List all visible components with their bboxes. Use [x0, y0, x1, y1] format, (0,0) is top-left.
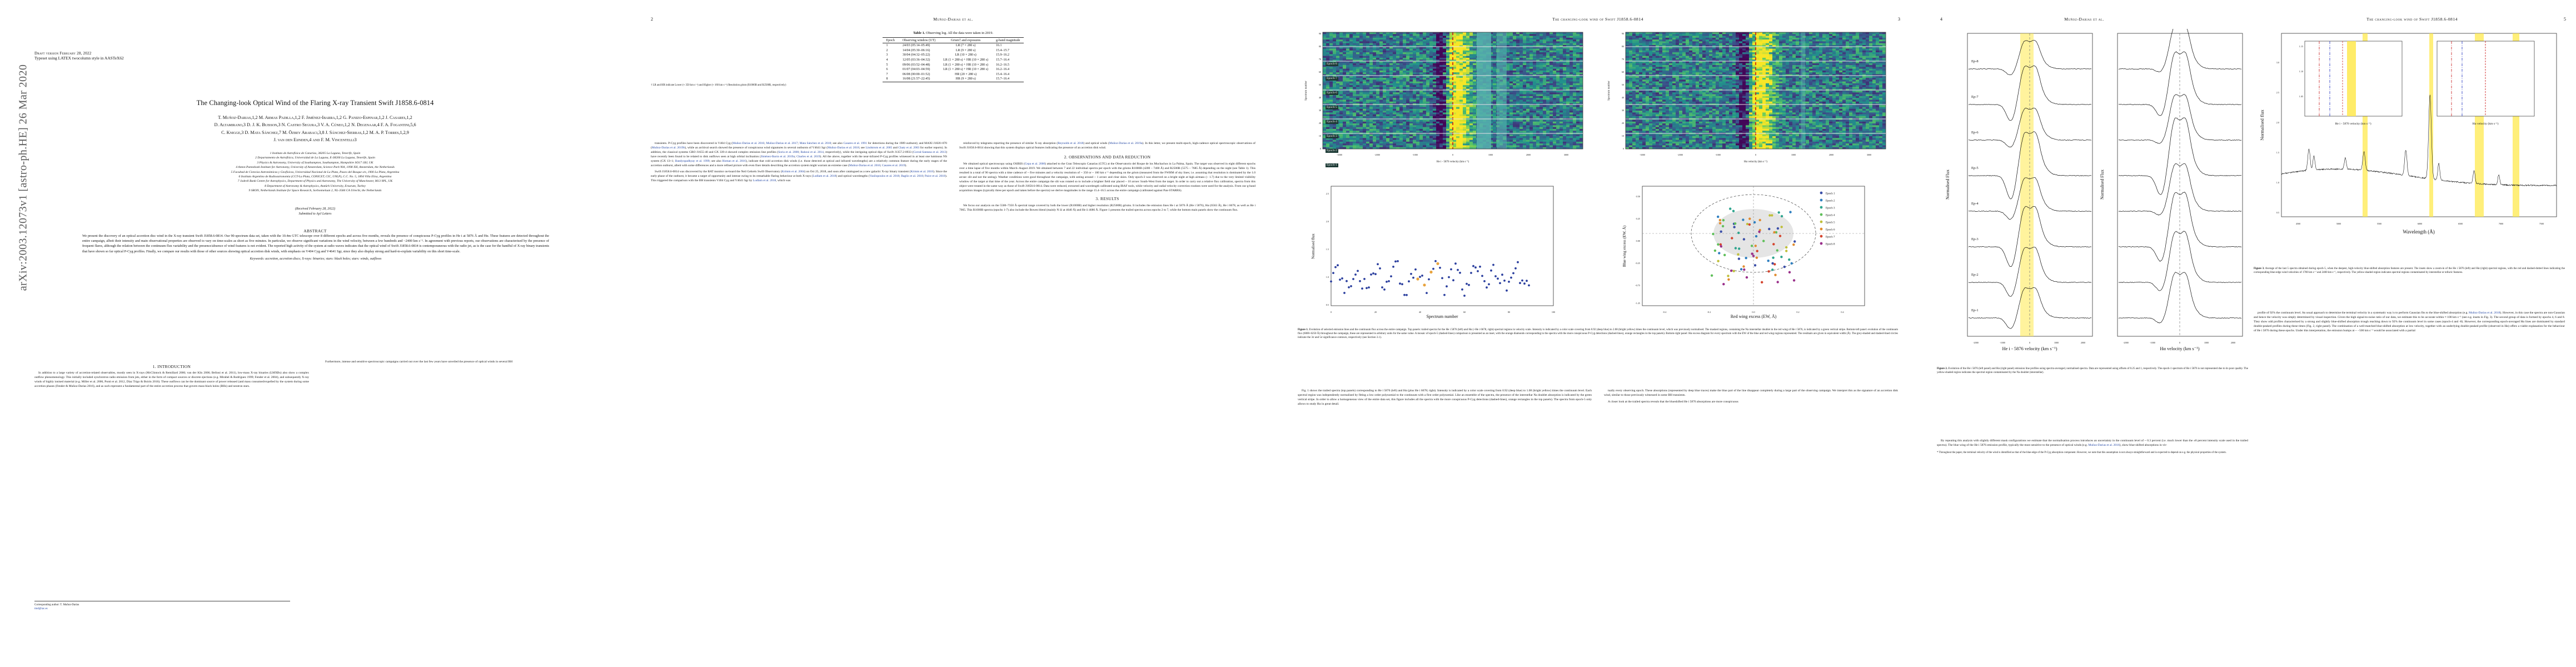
excess-point	[1746, 223, 1748, 225]
flux-point	[1463, 295, 1466, 297]
excess-point	[1752, 255, 1755, 257]
figure2-caption: Figure 2. Evolution of the He i 5876 (le…	[1937, 367, 2248, 375]
flux-point	[1339, 278, 1341, 281]
legend-marker	[1820, 242, 1823, 245]
epoch-tag: Epoch-5	[1326, 106, 1338, 109]
cell-grism: LR (10 × 280 s)	[939, 53, 992, 58]
excess-point	[1754, 264, 1756, 266]
flux-point	[1352, 278, 1354, 280]
cell-mag: 16.1	[992, 43, 1024, 48]
flux-point	[1372, 272, 1374, 275]
affiliation-3: 3 Physics & Astronomy, University of Sou…	[34, 161, 596, 165]
paper-spread: arXiv:2003.12073v1 [astro-ph.HE] 26 Mar …	[0, 0, 2576, 667]
col-epoch: Epoch	[883, 38, 899, 43]
flux-point	[1441, 277, 1443, 280]
table-row: 3 30/04 (04:32–05:22) LR (10 × 280 s) 15…	[883, 53, 1024, 58]
excess-point	[1785, 246, 1787, 248]
continuum-flux-axes	[1331, 186, 1553, 306]
excess-point	[1743, 238, 1745, 240]
flux-point	[1390, 275, 1392, 277]
cell-grism: LR (1 × 280 s) + HR (10 × 280 s)	[939, 58, 992, 63]
cell-epoch: 2	[883, 48, 899, 53]
flux-point	[1412, 277, 1414, 279]
flux-point	[1343, 292, 1346, 294]
flux-point	[1497, 277, 1499, 280]
table-row: 5 09/06 (03:52–04:48) LR (1 × 280 s) + H…	[883, 62, 1024, 67]
flux-point	[1526, 280, 1528, 282]
page3-body-left: Fig. 1 shows the trailed spectra (top pa…	[1298, 389, 1592, 407]
excess-point	[1756, 250, 1758, 252]
figure1-caption-text: Evolution of selected emission lines and…	[1298, 328, 1898, 339]
col-grism: Grism† and exposures	[939, 38, 992, 43]
excess-point	[1714, 250, 1716, 252]
excess-point	[1768, 214, 1771, 216]
flux-x-label: Spectrum number	[1426, 314, 1458, 319]
running-head-3: The changing-look wind of Swift J1858.6-…	[1275, 17, 1920, 22]
x-axis-label-left: He i - 5876 velocity (km s⁻¹)	[1437, 160, 1469, 163]
flux-point	[1354, 273, 1357, 276]
corresponding-email[interactable]: tmd@iac.es	[34, 607, 290, 611]
author-line-4: J. van den Eijnden,4 and F. M. Vincentel…	[34, 136, 596, 143]
page-3: 3 The changing-look wind of Swift J1858.…	[1275, 0, 1920, 667]
excess-point	[1745, 257, 1747, 259]
table-caption-label: Table 1.	[913, 31, 925, 35]
epoch-tag: Epoch-4	[1326, 120, 1338, 124]
flux-point	[1432, 268, 1434, 270]
epoch-label: Ep-3	[1971, 237, 1979, 241]
flux-point	[1370, 273, 1372, 276]
flux-point	[1510, 277, 1512, 279]
excess-point	[1793, 240, 1796, 242]
flux-point	[1477, 270, 1479, 272]
flux-point	[1512, 272, 1514, 275]
flux-point	[1457, 269, 1459, 271]
page2-column-left: transients. P-Cyg profiles have been dis…	[651, 142, 947, 215]
excess-point	[1785, 250, 1787, 252]
excess-point	[1781, 226, 1783, 228]
figure2-y-label-right: Normalised Flux	[2100, 170, 2105, 200]
excess-point	[1712, 233, 1714, 235]
cell-epoch: 4	[883, 58, 899, 63]
flux-point	[1361, 287, 1363, 290]
epoch-tag: Epoch-7	[1326, 77, 1338, 81]
results-heading: 3. RESULTS	[959, 196, 1255, 202]
excess-point	[1774, 274, 1776, 276]
corresponding-author: Corresponding author: T. Muñoz-Darias tm…	[34, 601, 290, 611]
affiliation-1: 1 Instituto de Astrofísica de Canarias, …	[34, 151, 596, 156]
cell-mag: 15.7–16.4	[992, 58, 1024, 63]
trailed-spectra-halpha	[1626, 32, 1886, 150]
table-row: 8 16/08 (21:57–22:45) HR (9 × 280 s) 15.…	[883, 77, 1024, 82]
flux-point	[1528, 285, 1530, 287]
epoch-label: Ep-1	[1971, 308, 1979, 312]
flux-point	[1501, 273, 1503, 276]
flux-point	[1334, 266, 1337, 268]
figure2-label: Figure 2.	[1937, 367, 1947, 370]
flux-point	[1519, 282, 1521, 284]
excess-point	[1772, 257, 1774, 259]
flux-point	[1366, 287, 1368, 289]
legend-label: Epoch 1	[1826, 193, 1835, 196]
affiliations: 1 Instituto de Astrofísica de Canarias, …	[34, 151, 596, 193]
figure2-x-label-right: Hα velocity (km s⁻¹)	[2160, 346, 2199, 351]
author-line-1: T. Muñoz-Darias,1,2 M. Armas Padilla,1,2…	[34, 114, 596, 121]
excess-point	[1789, 211, 1791, 213]
page4-body-right: profile of 92% the continuum level. An u…	[2254, 311, 2565, 333]
flux-point	[1383, 288, 1386, 291]
flux-point	[1488, 283, 1490, 286]
legend-marker	[1820, 221, 1823, 223]
legend-label: Epoch 4	[1826, 215, 1835, 217]
flux-point	[1348, 286, 1350, 288]
excess-point	[1727, 275, 1729, 277]
excess-point	[1751, 252, 1753, 255]
table-row: 1 24/03 (05:14–05:49) LR (7 × 280 s) 16.…	[883, 43, 1024, 48]
excess-point	[1773, 231, 1775, 233]
flux-point-highlight	[1429, 271, 1432, 273]
table-observing-log: Table 1. Observing log. All the data wer…	[883, 31, 1024, 82]
figure3-x-label: Wavelength (Å)	[2403, 229, 2435, 235]
excess-point	[1717, 260, 1719, 262]
cell-window: 09/06 (03:52–04:48)	[899, 62, 939, 67]
cell-epoch: 1	[883, 43, 899, 48]
cell-grism: LR (7 × 280 s)	[939, 43, 992, 48]
legend-marker	[1820, 228, 1823, 231]
cell-mag: 15.4–15.7	[992, 48, 1024, 53]
legend-marker	[1820, 235, 1823, 238]
excess-point	[1788, 258, 1790, 261]
cell-window: 24/03 (05:14–05:49)	[899, 43, 939, 48]
flux-point	[1350, 285, 1352, 287]
flux-point	[1508, 281, 1510, 283]
abstract-heading: ABSTRACT	[34, 228, 596, 233]
page-4: 4 Muñoz-Darias et al. The changing-look …	[1920, 0, 2576, 667]
excess-point	[1777, 281, 1779, 283]
excess-point	[1773, 263, 1776, 265]
flux-point	[1357, 270, 1359, 272]
excess-point	[1717, 216, 1719, 218]
excess-y-label: Blue wing excess (EW, Å)	[1622, 225, 1627, 267]
flux-point	[1506, 290, 1508, 292]
excess-point	[1735, 247, 1737, 249]
excess-x-label: Red wing excess (EW, Å)	[1731, 314, 1777, 319]
flux-point	[1426, 292, 1428, 294]
legend-label: Epoch 7	[1826, 236, 1835, 239]
table-caption: Table 1. Observing log. All the data wer…	[883, 31, 1024, 37]
excess-point	[1778, 211, 1780, 213]
flux-point	[1517, 261, 1519, 263]
excess-point	[1727, 278, 1730, 281]
flux-point	[1494, 275, 1497, 277]
excess-point	[1748, 223, 1751, 226]
excess-point	[1792, 243, 1795, 246]
cell-window: 01/07 (04:03–04:59)	[899, 67, 939, 72]
flux-point	[1377, 263, 1379, 265]
flux-point-highlight	[1416, 277, 1419, 280]
excess-point	[1738, 247, 1740, 250]
figure2-x-label-left: He i - 5876 velocity (km s⁻¹)	[2002, 346, 2057, 351]
y-axis-ticks-right: 908070 605040 302010 0	[1622, 32, 1624, 150]
cell-window: 14/04 (05:30–06:16)	[899, 48, 939, 53]
figure3-label: Figure 3.	[2254, 267, 2264, 270]
excess-point	[1734, 222, 1736, 225]
epoch-tag: Epoch-1	[1326, 163, 1338, 167]
cell-grism: LR (1 × 280 s) + HR (10 × 280 s)	[939, 67, 992, 72]
flux-point-highlight	[1436, 262, 1439, 265]
legend-marker	[1820, 213, 1823, 216]
epoch-label: Ep-4	[1971, 202, 1979, 206]
excess-point	[1758, 231, 1760, 233]
legend-marker	[1820, 192, 1823, 195]
cell-window: 06/08 (00:00–01:52)	[899, 72, 939, 77]
affiliation-2: 2 Departamento de Astrofísica, Universid…	[34, 156, 596, 160]
page2-body-left: transients. P-Cyg profiles have been dis…	[651, 142, 947, 183]
flux-point	[1461, 288, 1463, 291]
flux-point	[1359, 280, 1361, 282]
figure3-inset-hei: He i - 5876 velocity (km s⁻¹) 1.151.101.…	[2299, 41, 2402, 126]
typeset-line: Typeset using LATEX twocolumn style in A…	[34, 56, 296, 61]
cell-epoch: 6	[883, 67, 899, 72]
flux-point	[1474, 266, 1477, 268]
flux-point-highlight	[1423, 283, 1426, 286]
cell-mag: 15.4–16.4	[992, 72, 1024, 77]
flux-point	[1479, 266, 1481, 268]
flux-point	[1388, 280, 1390, 282]
excess-point	[1718, 252, 1720, 254]
keywords: Keywords: accretion, accretion discs; X-…	[82, 257, 549, 261]
flux-point	[1381, 286, 1383, 288]
flux-point	[1374, 273, 1377, 275]
flux-point	[1439, 267, 1441, 269]
excess-point	[1729, 207, 1731, 210]
excess-point	[1722, 225, 1724, 227]
excess-point	[1761, 281, 1763, 283]
cell-mag: 15.7–16.4	[992, 77, 1024, 82]
excess-point	[1788, 271, 1791, 273]
figure2-svg: Ep-1Ep-2Ep-3Ep-4Ep-5Ep-6Ep-7Ep-8 He i - …	[1937, 29, 2248, 362]
excess-point	[1767, 260, 1770, 262]
cell-mag: 16.2–16.4	[992, 67, 1024, 72]
figure-1-graphic: 908070 605040 302010 0 -3000-2000-1000 0…	[1298, 29, 1898, 173]
flux-point	[1332, 272, 1334, 274]
table-row: 7 06/08 (00:00–01:52) HR (20 × 280 s) 15…	[883, 72, 1024, 77]
flux-point	[1414, 268, 1417, 271]
page3-column-right: tually every observing epoch. These abso…	[1604, 389, 1898, 409]
flux-point	[1341, 277, 1343, 280]
excess-point	[1720, 231, 1722, 233]
excess-point	[1742, 265, 1745, 267]
epoch-tag: Epoch-8	[1326, 62, 1338, 66]
excess-point	[1733, 270, 1735, 272]
col-magnitude: g-band magnitude	[992, 38, 1024, 43]
y-axis-label-right: Spectrum number	[1608, 81, 1611, 101]
cell-grism: HR (9 × 280 s)	[939, 77, 992, 82]
cell-epoch: 3	[883, 53, 899, 58]
cell-epoch: 8	[883, 77, 899, 82]
epoch-label: Ep-8	[1971, 59, 1979, 63]
trailed-spectra-heii	[1323, 32, 1583, 150]
flux-point	[1503, 280, 1506, 282]
flux-point	[1363, 278, 1366, 280]
page1-column-left: 1. INTRODUCTION In addition to a large v…	[34, 360, 309, 391]
figure2-panel-halpha	[2117, 33, 2243, 336]
abstract-text: We present the discovery of an optical a…	[82, 233, 549, 254]
page-1: arXiv:2003.12073v1 [astro-ph.HE] 26 Mar …	[0, 0, 631, 667]
table-row: 6 01/07 (04:03–04:59) LR (1 × 280 s) + H…	[883, 67, 1024, 72]
running-head-5: The changing-look wind of Swift J1858.6-…	[2248, 17, 2576, 22]
legend-marker	[1820, 199, 1823, 202]
flux-point	[1386, 281, 1388, 283]
legend-marker	[1820, 206, 1823, 209]
flux-point	[1419, 276, 1421, 278]
flux-point	[1470, 272, 1472, 274]
affiliation-5: 5 Facultad de Ciencias Astronómicas y Ge…	[34, 170, 596, 175]
submitted-to: Submitted to ApJ Letters	[34, 212, 596, 217]
y-axis-ticks-left: 908070 605040 302010 0	[1319, 32, 1321, 150]
figure3-svg: 450050005500 600065007000 7500 0.51.01.5…	[2254, 29, 2565, 262]
page-title: The Changing-look Optical Wind of the Fl…	[34, 99, 596, 107]
excess-point	[1719, 219, 1721, 221]
excess-point	[1755, 245, 1757, 247]
flux-point	[1368, 286, 1370, 288]
flux-point	[1428, 278, 1430, 281]
excess-point	[1737, 232, 1740, 234]
excess-point	[1731, 237, 1733, 239]
flux-point	[1452, 279, 1454, 281]
page1-column-right: Furthermore, intense and sensitive spect…	[321, 360, 596, 391]
flux-point	[1443, 294, 1446, 296]
figure-1-bottom-panels: Spectrum number Normalised flux 02040 60…	[1298, 181, 1898, 325]
excess-point	[1723, 254, 1726, 256]
affiliation-7: 7 Jodrell Bank Centre for Astrophysics, …	[34, 179, 596, 183]
legend-label: Epoch 2	[1826, 200, 1835, 203]
affiliation-4: 4 Anton Pannekoek Institute for Astronom…	[34, 165, 596, 170]
excess-point	[1746, 276, 1748, 278]
table-body: 1 24/03 (05:14–05:49) LR (7 × 280 s) 16.…	[883, 43, 1024, 82]
flux-point	[1468, 284, 1470, 286]
intro-paragraph-2: Furthermore, intense and sensitive spect…	[321, 360, 596, 365]
excess-point	[1780, 256, 1782, 258]
page2-body-right: reinforced by telegrams reporting the pr…	[959, 142, 1255, 213]
excess-point	[1730, 270, 1732, 272]
excess-point	[1793, 279, 1795, 281]
flux-point	[1486, 286, 1488, 288]
cell-window: 30/04 (04:32–05:22)	[899, 53, 939, 58]
flux-point	[1401, 283, 1403, 285]
flux-point	[1410, 273, 1412, 275]
excess-point	[1719, 222, 1721, 224]
flux-point	[1399, 282, 1401, 285]
flux-y-label: Normalised flux	[1311, 233, 1316, 259]
flux-point	[1406, 294, 1408, 296]
y-axis-label-left: Spectrum number	[1305, 81, 1308, 101]
flux-point	[1330, 281, 1332, 283]
figure3-inset-halpha: Hα velocity (km s⁻¹)	[2437, 41, 2534, 126]
excess-point	[1762, 240, 1765, 242]
affiliation-6: 6 Instituto Argentino de Radioastronomía…	[34, 175, 596, 179]
flux-point	[1459, 272, 1461, 274]
x-axis-label-right: Hα velocity (km s⁻¹)	[1744, 160, 1767, 163]
epoch-label: Ep-2	[1971, 273, 1979, 277]
flux-point	[1454, 262, 1457, 265]
flux-point	[1392, 266, 1394, 268]
flux-point	[1492, 264, 1494, 266]
figure1-bottom-svg: Spectrum number Normalised flux 02040 60…	[1298, 181, 1898, 325]
x-axis-ticks-left: -3000-2000-1000 010002000 3000	[1337, 153, 1568, 156]
excess-point	[1720, 245, 1722, 247]
excess-point	[1759, 219, 1761, 221]
table-header-row: Epoch Observing window (UT) Grism† and e…	[883, 38, 1024, 43]
flux-point	[1490, 270, 1492, 272]
excess-point	[1722, 283, 1725, 285]
excess-point	[1771, 268, 1773, 271]
affiliation-8: 8 Department of Astronomy & Astrophysics…	[34, 184, 596, 188]
running-head-2: Muñoz-Darias et al.	[631, 17, 1275, 22]
epoch-label: Ep-6	[1971, 131, 1979, 135]
table-note: † LR and HR indicate Lower (≈ 350 km s⁻¹…	[651, 84, 1255, 87]
received-date: (Received February 28, 2022)	[34, 207, 596, 212]
flux-point	[1394, 261, 1397, 263]
cell-grism: LR (1 × 280 s) + HR (10 × 280 s)	[939, 62, 992, 67]
figure3-caption: Figure 3. Average of the last 5 spectra …	[2254, 267, 2565, 275]
figure1-svg: 908070 605040 302010 0 -3000-2000-1000 0…	[1298, 29, 1898, 173]
page-2: 2 Muñoz-Darias et al. Table 1. Observing…	[631, 0, 1275, 667]
excess-point	[1783, 266, 1786, 268]
intro-heading: 1. INTRODUCTION	[34, 364, 309, 369]
excess-point	[1740, 268, 1742, 270]
excess-point	[1737, 253, 1739, 256]
author-line-3: C. Knigge,3 D. Mata Sánchez,7 M. Özbey A…	[34, 129, 596, 136]
flux-point	[1483, 280, 1486, 282]
page4-body-left: By repeating this analysis with slightly…	[1937, 439, 2248, 455]
figure-3-graphic: 450050005500 600065007000 7500 0.51.01.5…	[2254, 29, 2565, 262]
epoch-tag: Epoch-2	[1326, 149, 1338, 153]
excess-point	[1722, 219, 1725, 221]
flux-point	[1346, 280, 1348, 282]
cell-epoch: 7	[883, 72, 899, 77]
legend-label: Epoch 8	[1826, 243, 1835, 246]
excess-point	[1732, 210, 1735, 212]
legend-label: Epoch 3	[1826, 207, 1835, 210]
figure3-caption-text: Average of the last 5 spectra obtained d…	[2254, 267, 2565, 274]
excess-point	[1742, 218, 1744, 221]
excess-point	[1743, 268, 1745, 271]
epoch-tag: Epoch-3	[1326, 135, 1338, 138]
figure-2-graphic: Ep-1Ep-2Ep-3Ep-4Ep-5Ep-6Ep-7Ep-8 He i - …	[1937, 29, 2248, 362]
cell-grism: LR (9 × 280 s)	[939, 48, 992, 53]
figure1-label: Figure 1.	[1298, 328, 1308, 331]
cell-grism: HR (20 × 280 s)	[939, 72, 992, 77]
table-row: 2 14/04 (05:30–06:16) LR (9 × 280 s) 15.…	[883, 48, 1024, 53]
page-number-5: 5	[2564, 17, 2566, 22]
flux-point	[1448, 276, 1450, 278]
flux-point	[1472, 265, 1474, 267]
excess-point	[1756, 257, 1758, 259]
excess-point	[1767, 270, 1770, 272]
flux-point	[1450, 268, 1452, 271]
author-list: T. Muñoz-Darias,1,2 M. Armas Padilla,1,2…	[34, 114, 596, 143]
flux-point	[1337, 264, 1339, 266]
flux-point	[1421, 275, 1423, 277]
excess-point	[1768, 228, 1770, 230]
page3-column-left: Fig. 1 shows the trailed spectra (top pa…	[1298, 389, 1592, 409]
flux-point	[1408, 280, 1410, 282]
excess-point	[1779, 235, 1781, 237]
affiliation-9: 9 SRON, Netherlands Institute for Space …	[34, 188, 596, 193]
page2-column-right: reinforced by telegrams reporting the pr…	[959, 142, 1255, 215]
x-axis-ticks-right: -3000-2000-1000 010002000 3000	[1640, 153, 1871, 156]
intro-paragraph-1: In addition to a large variety of accret…	[34, 371, 309, 389]
